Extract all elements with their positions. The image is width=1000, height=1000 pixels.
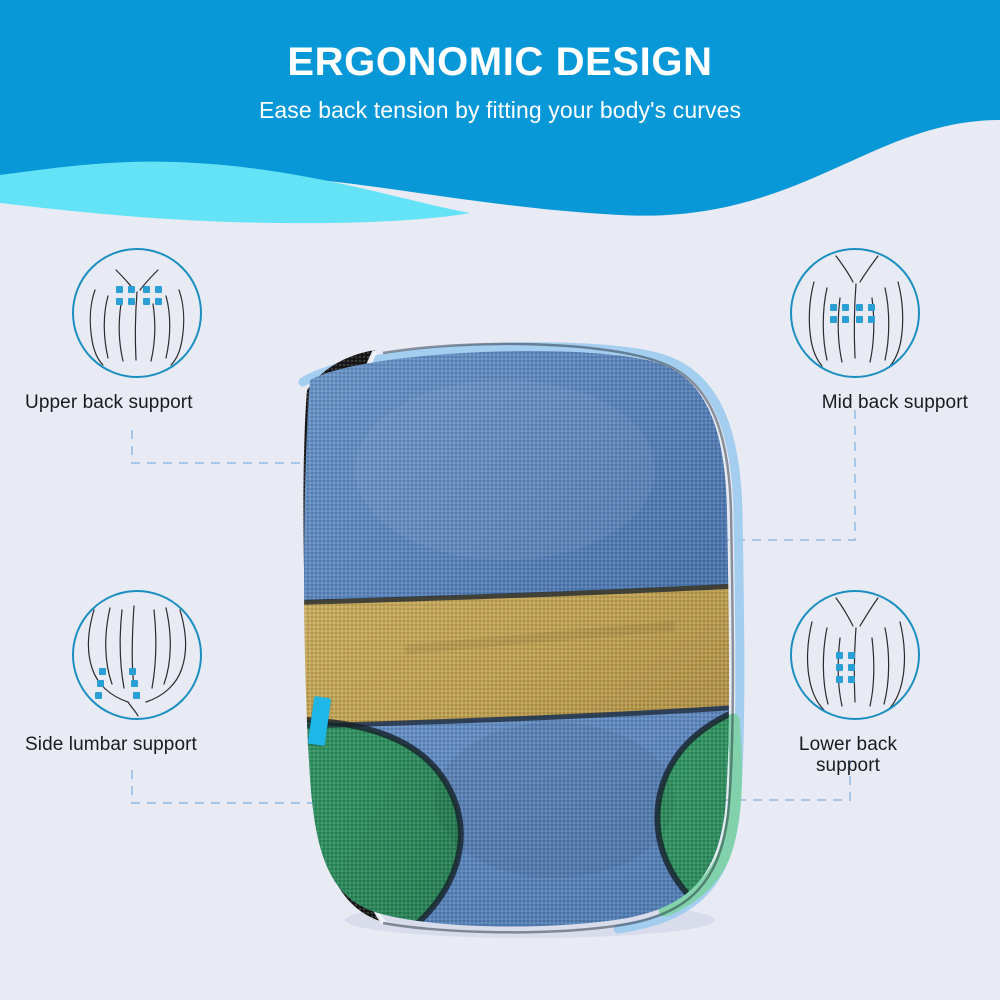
feature-icon-wrap-lower-back <box>790 590 920 720</box>
feature-label-side-lumbar: Side lumbar support <box>25 734 275 755</box>
page-subtitle: Ease back tension by fitting your body's… <box>0 83 1000 124</box>
feature-label-upper-back: Upper back support <box>25 392 275 413</box>
feature-circle-lower-back <box>790 590 920 720</box>
feature-icon-wrap-side-lumbar <box>72 590 202 720</box>
feature-circle-upper-back <box>72 248 202 378</box>
cushion-illustration <box>255 320 795 940</box>
feature-mid-back[interactable]: Mid back support <box>725 248 975 413</box>
feature-circle-side-lumbar <box>72 590 202 720</box>
feature-label-mid-back: Mid back support <box>725 392 975 413</box>
feature-icon-wrap-upper-back <box>72 248 202 378</box>
cushion-center-shading <box>435 722 675 878</box>
feature-upper-back[interactable]: Upper back support <box>25 248 275 413</box>
page-title: ERGONOMIC DESIGN <box>0 0 1000 83</box>
cushion-upper-shading <box>355 380 655 560</box>
feature-side-lumbar[interactable]: Side lumbar support <box>25 590 275 755</box>
feature-circle-mid-back <box>790 248 920 378</box>
header-text-block: ERGONOMIC DESIGN Ease back tension by fi… <box>0 0 1000 124</box>
infographic-canvas: ERGONOMIC DESIGN Ease back tension by fi… <box>0 0 1000 1000</box>
feature-icon-wrap-mid-back <box>790 248 920 378</box>
header-banner: ERGONOMIC DESIGN Ease back tension by fi… <box>0 0 1000 230</box>
product-lumbar-cushion <box>255 320 795 940</box>
feature-label-lower-back: Lower back support <box>725 734 975 777</box>
feature-lower-back[interactable]: Lower back support <box>725 590 975 777</box>
